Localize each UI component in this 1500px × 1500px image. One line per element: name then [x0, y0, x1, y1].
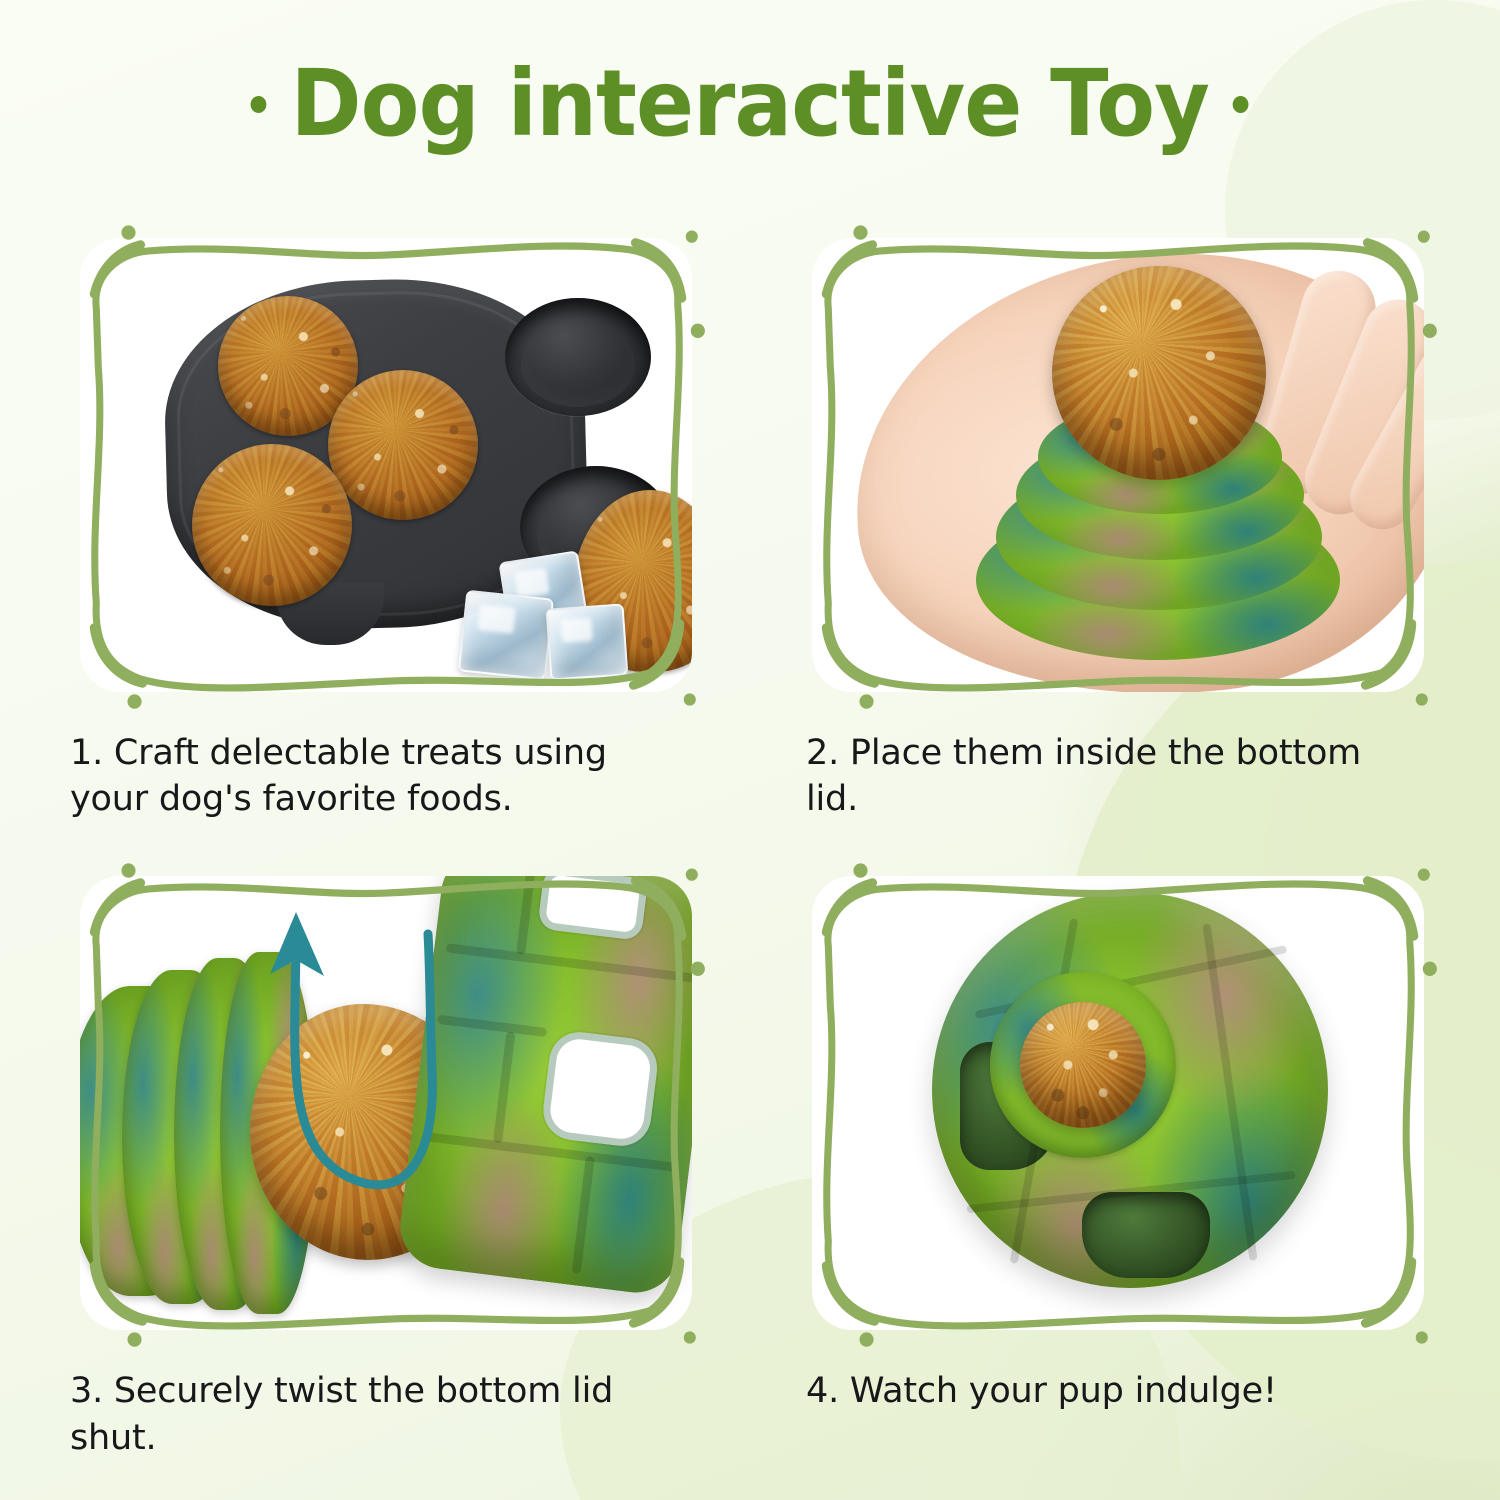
step-image-3: [80, 876, 692, 1330]
toy-rib: [1202, 923, 1257, 1261]
step-caption-4: 4. Watch your pup indulge!: [806, 1368, 1406, 1414]
empty-cavity: [505, 298, 651, 416]
body-rib: [493, 1032, 516, 1144]
title-bar: Dog interactive Toy: [0, 58, 1500, 150]
step-frame-1: [66, 228, 706, 702]
step-frame-2: [798, 228, 1438, 702]
step-cell-2: 2. Place them inside the bottom lid.: [750, 228, 1500, 822]
step-caption-2: 2. Place them inside the bottom lid.: [806, 730, 1406, 822]
treat-ball: [1052, 266, 1266, 480]
ice-cube: [546, 603, 629, 680]
step-cell-3: 3. Securely twist the bottom lid shut.: [0, 866, 750, 1460]
step-frame-4: [798, 866, 1438, 1340]
steps-row-bottom: 3. Securely twist the bottom lid shut.: [0, 866, 1500, 1460]
step-caption-1: 1. Craft delectable treats using your do…: [70, 730, 670, 822]
toy-opening: [537, 876, 648, 941]
body-rib: [572, 1156, 595, 1274]
twist-arrow-icon: [230, 894, 490, 1224]
steps-grid: 1. Craft delectable treats using your do…: [0, 228, 1500, 1461]
treat-puck: [328, 370, 478, 520]
toy-opening: [1082, 1192, 1210, 1278]
treat-puck: [192, 444, 352, 606]
treat-ball: [1020, 1002, 1146, 1128]
step-image-2: [812, 238, 1424, 692]
body-rib: [516, 876, 536, 955]
bottom-lid: [982, 348, 1332, 648]
step-cell-1: 1. Craft delectable treats using your do…: [0, 228, 750, 822]
mold-tray-scene: [80, 238, 692, 692]
step-frame-3: [66, 866, 706, 1340]
page-title-text: Dog interactive Toy: [291, 58, 1209, 150]
step-cell-4: 4. Watch your pup indulge!: [750, 866, 1500, 1460]
page-title: Dog interactive Toy: [251, 58, 1249, 150]
ice-cube: [458, 590, 554, 681]
step-caption-3: 3. Securely twist the bottom lid shut.: [70, 1368, 670, 1460]
steps-row-top: 1. Craft delectable treats using your do…: [0, 228, 1500, 822]
dot-bullet-icon: [251, 96, 267, 113]
step-image-4: [812, 876, 1424, 1330]
infographic-poster: Dog interactive Toy: [0, 0, 1500, 1500]
dot-bullet-icon: [1233, 96, 1249, 113]
step-image-1: [80, 238, 692, 692]
toy-opening: [540, 1029, 660, 1149]
